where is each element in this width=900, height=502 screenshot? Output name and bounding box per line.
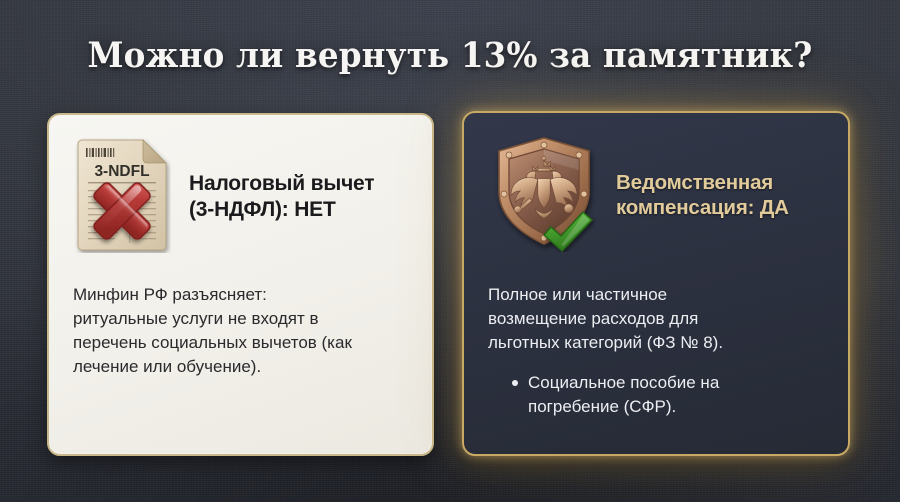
tax-deduction-heading: Налоговый вычет (3-НДФЛ): НЕТ [189, 171, 374, 222]
document-3ndfl-rejected-icon: 3-NDFL [73, 137, 171, 258]
list-item: Социальное пособие на погребение (СФР). [528, 371, 858, 419]
departmental-compensation-card: Ведомственная компенсация: ДА Полное или… [462, 111, 850, 456]
document-icon-label: 3-NDFL [94, 163, 149, 180]
departmental-compensation-heading: Ведомственная компенсация: ДА [616, 170, 789, 220]
slide-canvas: Можно ли вернуть 13% за памятник? [0, 0, 900, 502]
tax-deduction-body-text: Минфин РФ разъясняет: ритуальные услуги … [73, 283, 418, 380]
tax-deduction-card: 3-NDFL [47, 113, 434, 456]
tax-deduction-card-header: 3-NDFL [73, 137, 413, 257]
page-title: Можно ли вернуть 13% за памятник? [32, 35, 869, 76]
departmental-compensation-body-text: Полное или частичное возмещение расходов… [488, 283, 836, 355]
departmental-compensation-bullet-list: Социальное пособие на погребение (СФР). [506, 371, 858, 419]
bronze-shield-eagle-approved-icon [488, 134, 600, 257]
departmental-compensation-card-header: Ведомственная компенсация: ДА [488, 133, 832, 257]
